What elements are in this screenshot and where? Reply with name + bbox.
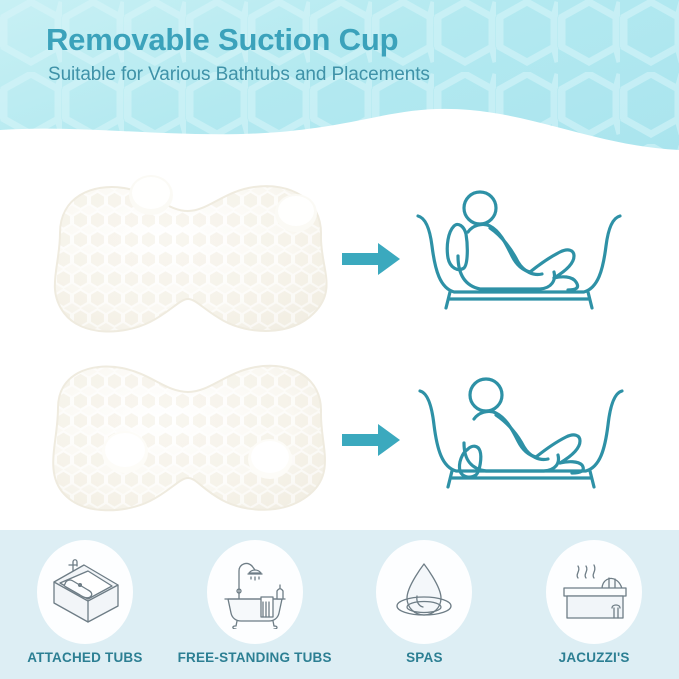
free-standing-tub-icon [217, 555, 293, 629]
arrow-right-icon [342, 241, 402, 277]
compatibility-label: JACUZZI'S [559, 650, 630, 665]
bath-pillow-top [38, 171, 338, 346]
compatibility-item-attached-tubs[interactable]: ATTACHED TUBS [10, 540, 160, 665]
arrow-container-1 [338, 241, 406, 277]
person-in-bathtub-icon [406, 365, 656, 515]
product-infographic: Removable Suction Cup Suitable for Vario… [0, 0, 679, 679]
bath-pillow-honeycomb-icon [38, 352, 338, 527]
compatibility-label: SPAS [406, 650, 443, 665]
badge-oval [37, 540, 133, 644]
bathtub-illustration-head-support [406, 184, 656, 334]
person-in-bathtub-icon [406, 184, 656, 334]
compatibility-item-free-standing-tubs[interactable]: FREE-STANDING TUBS [180, 540, 330, 665]
water-drop-icon [389, 556, 459, 628]
placement-row-lumbar-support [0, 349, 679, 530]
compatibility-band: ATTACHED TUBS [0, 530, 679, 679]
bath-pillow-bottom [38, 352, 338, 527]
placement-row-head-support [0, 168, 679, 349]
header-text-block: Removable Suction Cup Suitable for Vario… [46, 22, 430, 86]
header-banner: Removable Suction Cup Suitable for Vario… [0, 0, 679, 168]
badge-oval [546, 540, 642, 644]
compatibility-label: ATTACHED TUBS [27, 650, 142, 665]
attached-tub-icon [46, 556, 124, 628]
badge-oval [376, 540, 472, 644]
bathtub-illustration-lumbar-support [406, 365, 656, 515]
arrow-container-2 [338, 422, 406, 458]
main-content [0, 168, 679, 530]
page-subtitle: Suitable for Various Bathtubs and Placem… [48, 64, 430, 86]
bath-pillow-honeycomb-icon [38, 171, 338, 346]
compatibility-item-spas[interactable]: SPAS [349, 540, 499, 665]
compatibility-label: FREE-STANDING TUBS [178, 650, 332, 665]
arrow-right-icon [342, 422, 402, 458]
jacuzzi-icon [556, 556, 632, 628]
badge-oval [207, 540, 303, 644]
compatibility-list: ATTACHED TUBS [0, 530, 679, 679]
compatibility-item-jacuzzis[interactable]: JACUZZI'S [519, 540, 669, 665]
page-title: Removable Suction Cup [46, 22, 430, 58]
